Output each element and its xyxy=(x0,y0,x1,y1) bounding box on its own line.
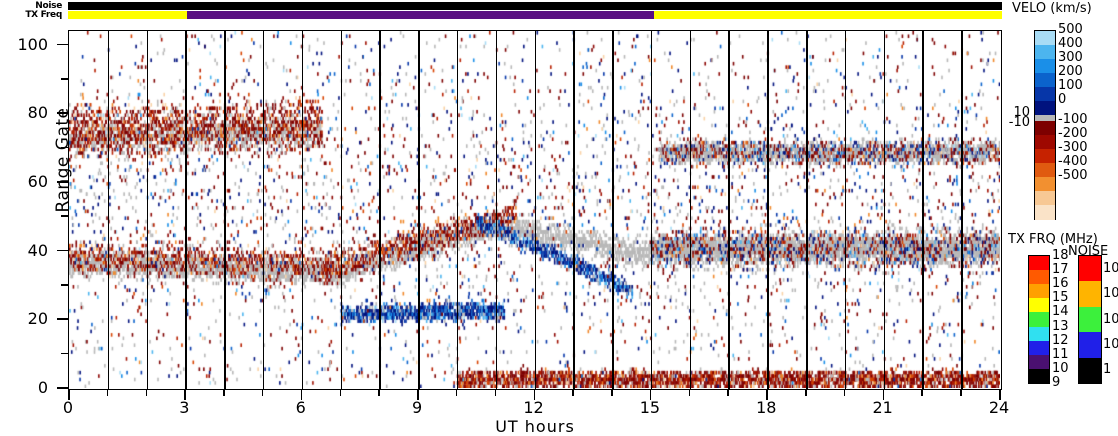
gridline xyxy=(418,31,420,389)
x-tick-minor xyxy=(689,390,691,396)
velocity-colorbar-strip xyxy=(1034,30,1056,220)
velocity-colorbar-label: -300 xyxy=(1058,140,1088,155)
txfreq-colorbar-label: 16 xyxy=(1052,276,1069,291)
x-axis-title: UT hours xyxy=(0,417,1070,436)
txfreq-colorbar-label: 17 xyxy=(1052,262,1069,277)
txfreq-colorbar-label: 10 xyxy=(1052,361,1069,376)
noise-colorbar-label: 100 xyxy=(1103,312,1118,327)
y-tick-label: 100 xyxy=(17,35,48,54)
x-tick-minor xyxy=(844,390,846,396)
colorbar-cell xyxy=(1035,31,1055,46)
velocity-colorbar-label: 0 xyxy=(1058,92,1066,107)
y-tick-label: 60 xyxy=(28,172,48,191)
x-tick-minor xyxy=(495,390,497,396)
gridline xyxy=(457,31,459,389)
velocity-colorbar-label: 300 xyxy=(1058,50,1083,65)
y-tick-minor xyxy=(61,78,68,80)
gridline xyxy=(651,31,653,389)
gridline xyxy=(108,31,110,389)
txfreq-colorbar-label: 9 xyxy=(1052,375,1060,390)
y-tick-major xyxy=(57,44,68,46)
colorbar-cell xyxy=(1029,312,1049,327)
colorbar-cell xyxy=(1035,101,1055,116)
gridline xyxy=(185,31,187,389)
colorbar-cell xyxy=(1035,191,1055,206)
colorbar-cell xyxy=(1079,256,1101,282)
colorbar-cell xyxy=(1079,307,1101,333)
x-tick-label: 6 xyxy=(281,398,321,417)
y-tick-label: 40 xyxy=(28,241,48,260)
x-tick-minor xyxy=(146,390,148,396)
x-tick-minor xyxy=(456,390,458,396)
gridline xyxy=(573,31,575,389)
x-tick-label: 3 xyxy=(164,398,204,417)
velocity-colorbar-label: 400 xyxy=(1058,36,1083,51)
colorbar-cell xyxy=(1029,369,1049,384)
y-axis-title: Range Gate xyxy=(53,90,73,230)
colorbar-cell xyxy=(1029,355,1049,370)
velocity-colorbar-label: 500 xyxy=(1058,22,1083,37)
txfreq-colorbar-label: 11 xyxy=(1052,347,1069,362)
y-axis-labels: 020406080100 xyxy=(0,30,54,390)
colorbar-cell xyxy=(1035,121,1055,136)
colorbar-cell xyxy=(1035,45,1055,60)
colorbar-cell xyxy=(1035,177,1055,192)
gridline xyxy=(884,31,886,389)
bar-segment xyxy=(68,11,187,19)
gridline xyxy=(961,31,963,389)
gridline xyxy=(922,31,924,389)
x-tick-minor xyxy=(727,390,729,396)
x-tick-minor xyxy=(223,390,225,396)
noise-colorbar-label: 10 xyxy=(1103,337,1118,352)
noise-colorbar-label: 1 xyxy=(1103,362,1111,377)
colorbar-cell xyxy=(1079,332,1101,358)
bar-segment xyxy=(654,11,1002,19)
x-tick-minor xyxy=(960,390,962,396)
y-tick-minor xyxy=(61,284,68,286)
noise-colorbar-strip xyxy=(1078,255,1102,384)
gridline xyxy=(535,31,537,389)
x-tick-label: 0 xyxy=(48,398,88,417)
gridline xyxy=(147,31,149,389)
gridline xyxy=(767,31,769,389)
colorbar-cell xyxy=(1029,270,1049,285)
y-tick-minor xyxy=(61,353,68,355)
noise-timeseries-bar xyxy=(68,2,1002,10)
velocity-colorbar-label: 200 xyxy=(1058,64,1083,79)
txfreq-colorbar-strip xyxy=(1028,255,1050,384)
y-tick-label: 0 xyxy=(38,378,48,397)
x-tick-label: 21 xyxy=(863,398,903,417)
gridline xyxy=(224,31,226,389)
x-tick-minor xyxy=(340,390,342,396)
gridline xyxy=(806,31,808,389)
velocity-colorbar-label: -500 xyxy=(1058,168,1088,183)
bar-segment xyxy=(187,11,653,19)
y-tick-major xyxy=(57,318,68,320)
velocity-colorbar-title: VELO (km/s) xyxy=(1012,1,1092,16)
x-tick-label: 15 xyxy=(630,398,670,417)
gridline xyxy=(302,31,304,389)
x-tick-minor xyxy=(805,390,807,396)
noise-colorbar-label: 10000 xyxy=(1103,261,1118,276)
colorbar-cell xyxy=(1029,327,1049,342)
x-axis-labels: 03691215182124 xyxy=(0,398,1118,418)
radar-rti-plot: Noise TX Freq VELO (km/s) 020406080100 R… xyxy=(0,0,1118,435)
colorbar-cell xyxy=(1079,281,1101,307)
x-tick-label: 18 xyxy=(746,398,786,417)
x-tick-minor xyxy=(921,390,923,396)
noise-colorbar-title: NOISE xyxy=(1068,244,1108,259)
txfreq-colorbar-label: 14 xyxy=(1052,304,1069,319)
velocity-colorbar-gs-label: -10 xyxy=(994,115,1030,130)
colorbar-cell xyxy=(1079,358,1101,384)
y-tick-major xyxy=(57,250,68,252)
x-tick-minor xyxy=(262,390,264,396)
x-tick-minor xyxy=(611,390,613,396)
gridline xyxy=(612,31,614,389)
colorbar-cell xyxy=(1035,59,1055,74)
velocity-colorbar-label: -200 xyxy=(1058,126,1088,141)
x-tick-label: 9 xyxy=(397,398,437,417)
colorbar-cell xyxy=(1035,135,1055,150)
gridline xyxy=(690,31,692,389)
colorbar-cell xyxy=(1029,256,1049,271)
gridline xyxy=(341,31,343,389)
colorbar-cell xyxy=(1035,163,1055,178)
y-tick-label: 80 xyxy=(28,103,48,122)
gridline xyxy=(728,31,730,389)
gridline xyxy=(845,31,847,389)
x-tick-minor xyxy=(572,390,574,396)
colorbar-cell xyxy=(1029,341,1049,356)
velocity-colorbar-label: -100 xyxy=(1058,112,1088,127)
bar-segment xyxy=(68,2,1002,10)
colorbar-cell xyxy=(1029,298,1049,313)
colorbar-cell xyxy=(1035,149,1055,164)
colorbar-cell xyxy=(1035,87,1055,102)
colorbar-cell xyxy=(1035,205,1055,220)
x-tick-minor xyxy=(107,390,109,396)
rti-plot-area xyxy=(68,30,1002,390)
x-tick-minor xyxy=(378,390,380,396)
velocity-colorbar-label: 100 xyxy=(1058,78,1083,93)
y-tick-label: 20 xyxy=(28,309,48,328)
gridline xyxy=(263,31,265,389)
txfreq-bar-label: TX Freq xyxy=(0,11,62,20)
gridline xyxy=(379,31,381,389)
velocity-colorbar-label: -400 xyxy=(1058,154,1088,169)
txfreq-colorbar-label: 15 xyxy=(1052,290,1069,305)
txfreq-colorbar-label: 13 xyxy=(1052,319,1069,334)
colorbar-cell xyxy=(1029,284,1049,299)
y-tick-major xyxy=(57,387,68,389)
txfreq-timeseries-bar xyxy=(68,11,1002,19)
gridline xyxy=(496,31,498,389)
noise-colorbar-label: 1000 xyxy=(1103,286,1118,301)
txfreq-colorbar-label: 12 xyxy=(1052,333,1069,348)
colorbar-cell xyxy=(1035,73,1055,88)
x-tick-label: 12 xyxy=(514,398,554,417)
txfreq-colorbar-label: 18 xyxy=(1052,248,1069,263)
x-tick-label: 24 xyxy=(979,398,1019,417)
